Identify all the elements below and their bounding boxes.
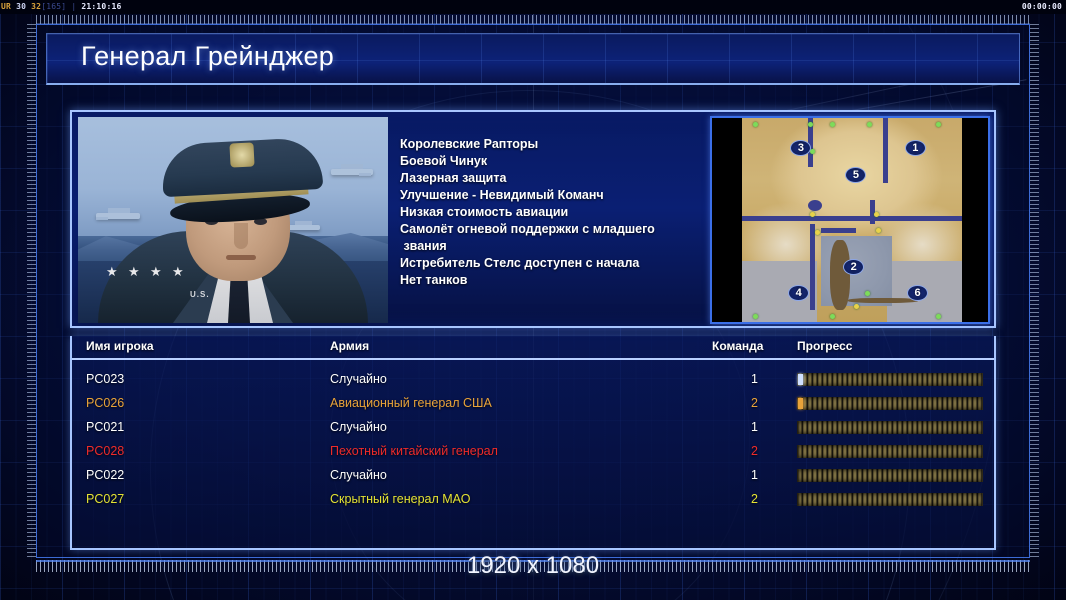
player-progress-bar <box>797 421 983 434</box>
minimap-road <box>883 118 888 183</box>
minimap-resource <box>936 314 941 319</box>
player-army: Скрытный генерал МАО <box>330 492 470 506</box>
uniform-branch-label: U.S. <box>190 290 210 299</box>
player-name: PC021 <box>86 420 124 434</box>
minimap-resource <box>753 122 758 127</box>
minimap-objective <box>810 212 815 217</box>
feature-item: Лазерная защита <box>400 170 700 187</box>
table-row[interactable]: PC023 Случайно 1 <box>72 368 994 392</box>
minimap-terrain: 3 1 5 2 4 6 <box>742 118 962 322</box>
player-name: PC027 <box>86 492 124 506</box>
general-feature-list: Королевские Рапторы Боевой Чинук Лазерна… <box>400 136 700 289</box>
ruler-top <box>36 15 1030 24</box>
status-bar: UR 30 32[165] | 21:10:16 00:00:00 <box>0 0 1066 14</box>
player-team: 1 <box>744 372 758 386</box>
minimap-river <box>848 298 918 303</box>
player-army: Случайно <box>330 372 387 386</box>
minimap-objective <box>876 228 881 233</box>
status-num2: 32 <box>31 2 41 11</box>
feature-item: Истребитель Стелс доступен с начала <box>400 255 700 272</box>
minimap-resource <box>936 122 941 127</box>
player-army: Пехотный китайский генерал <box>330 444 498 458</box>
feature-item: Королевские Рапторы <box>400 136 700 153</box>
player-team: 2 <box>744 396 758 410</box>
player-team: 2 <box>744 492 758 506</box>
progress-lead <box>798 374 803 385</box>
ruler-right <box>1030 24 1039 558</box>
page-title: Генерал Грейнджер <box>81 41 334 72</box>
table-row[interactable]: PC026 Авиационный генерал США 2 <box>72 392 994 416</box>
minimap-resource <box>867 122 872 127</box>
column-header-player-name: Имя игрока <box>86 339 154 353</box>
portrait-mouth <box>226 255 256 260</box>
minimap-objective <box>874 212 879 217</box>
status-prefix: UR <box>1 2 11 11</box>
status-left-group: UR 30 32[165] | 21:10:16 <box>1 0 122 14</box>
general-portrait: ★★★★ U.S. <box>78 117 388 323</box>
minimap-resource <box>830 122 835 127</box>
table-row[interactable]: PC027 Скрытный генерал МАО 2 <box>72 488 994 512</box>
minimap-resource <box>830 314 835 319</box>
minimap-preview[interactable]: 3 1 5 2 4 6 <box>710 116 990 324</box>
minimap-start-position[interactable]: 2 <box>843 259 864 275</box>
status-timer: 00:00:00 <box>1022 0 1062 14</box>
minimap-road <box>821 228 856 233</box>
feature-item: Низкая стоимость авиации <box>400 204 700 221</box>
player-team: 1 <box>744 468 758 482</box>
aircraft-icon <box>96 213 140 219</box>
game-lobby-screen: UR 30 32[165] | 21:10:16 00:00:00 Генера… <box>0 0 1066 600</box>
column-header-progress: Прогресс <box>797 339 852 353</box>
minimap-resource <box>810 149 815 154</box>
table-row[interactable]: PC021 Случайно 1 <box>72 416 994 440</box>
feature-item: Самолёт огневой поддержки с младшего <box>400 221 700 238</box>
column-header-team: Команда <box>712 339 763 353</box>
status-clock: 21:10:16 <box>81 2 121 11</box>
title-bar: Генерал Грейнджер <box>46 33 1020 85</box>
eagle-badge-icon <box>229 142 254 167</box>
player-name: PC023 <box>86 372 124 386</box>
player-team: 1 <box>744 420 758 434</box>
player-progress-bar <box>797 373 983 386</box>
player-table: Имя игрока Армия Команда Прогресс PC023 … <box>70 336 996 550</box>
player-name: PC026 <box>86 396 124 410</box>
minimap-start-position[interactable]: 1 <box>905 140 926 156</box>
resolution-label: 1920 x 1080 <box>0 552 1066 580</box>
feature-item: Нет танков <box>400 272 700 289</box>
player-army: Случайно <box>330 420 387 434</box>
column-header-army: Армия <box>330 339 369 353</box>
player-progress-bar <box>797 397 983 410</box>
player-army: Авиационный генерал США <box>330 396 492 410</box>
minimap-objective <box>854 304 859 309</box>
aircraft-icon <box>286 225 320 230</box>
table-row[interactable]: PC028 Пехотный китайский генерал 2 <box>72 440 994 464</box>
player-name: PC022 <box>86 468 124 482</box>
ruler-left <box>27 24 36 558</box>
player-progress-bar <box>797 493 983 506</box>
minimap-river <box>830 240 850 309</box>
minimap-start-position[interactable]: 5 <box>845 167 866 183</box>
player-progress-bar <box>797 445 983 458</box>
minimap-road <box>742 216 962 221</box>
aircraft-icon <box>331 169 373 175</box>
player-army: Случайно <box>330 468 387 482</box>
progress-lead <box>798 398 803 409</box>
portrait-nose <box>234 223 248 249</box>
table-header-row: Имя игрока Армия Команда Прогресс <box>72 336 994 360</box>
player-name: PC028 <box>86 444 124 458</box>
table-row[interactable]: PC022 Случайно 1 <box>72 464 994 488</box>
general-info-panel: ★★★★ U.S. Королевские Рапторы Боевой Чин… <box>70 110 996 328</box>
minimap-water <box>808 200 822 211</box>
minimap-road <box>810 224 815 310</box>
player-progress-bar <box>797 469 983 482</box>
minimap-objective <box>815 230 820 235</box>
feature-item: Улучшение - Невидимый Команч <box>400 187 700 204</box>
player-team: 2 <box>744 444 758 458</box>
status-num1: 30 <box>16 2 26 11</box>
feature-item: Боевой Чинук <box>400 153 700 170</box>
status-bracket: [165] <box>41 2 66 11</box>
feature-item: звания <box>400 238 700 255</box>
rank-insignia: ★★★★ <box>106 265 202 279</box>
minimap-resource <box>753 314 758 319</box>
